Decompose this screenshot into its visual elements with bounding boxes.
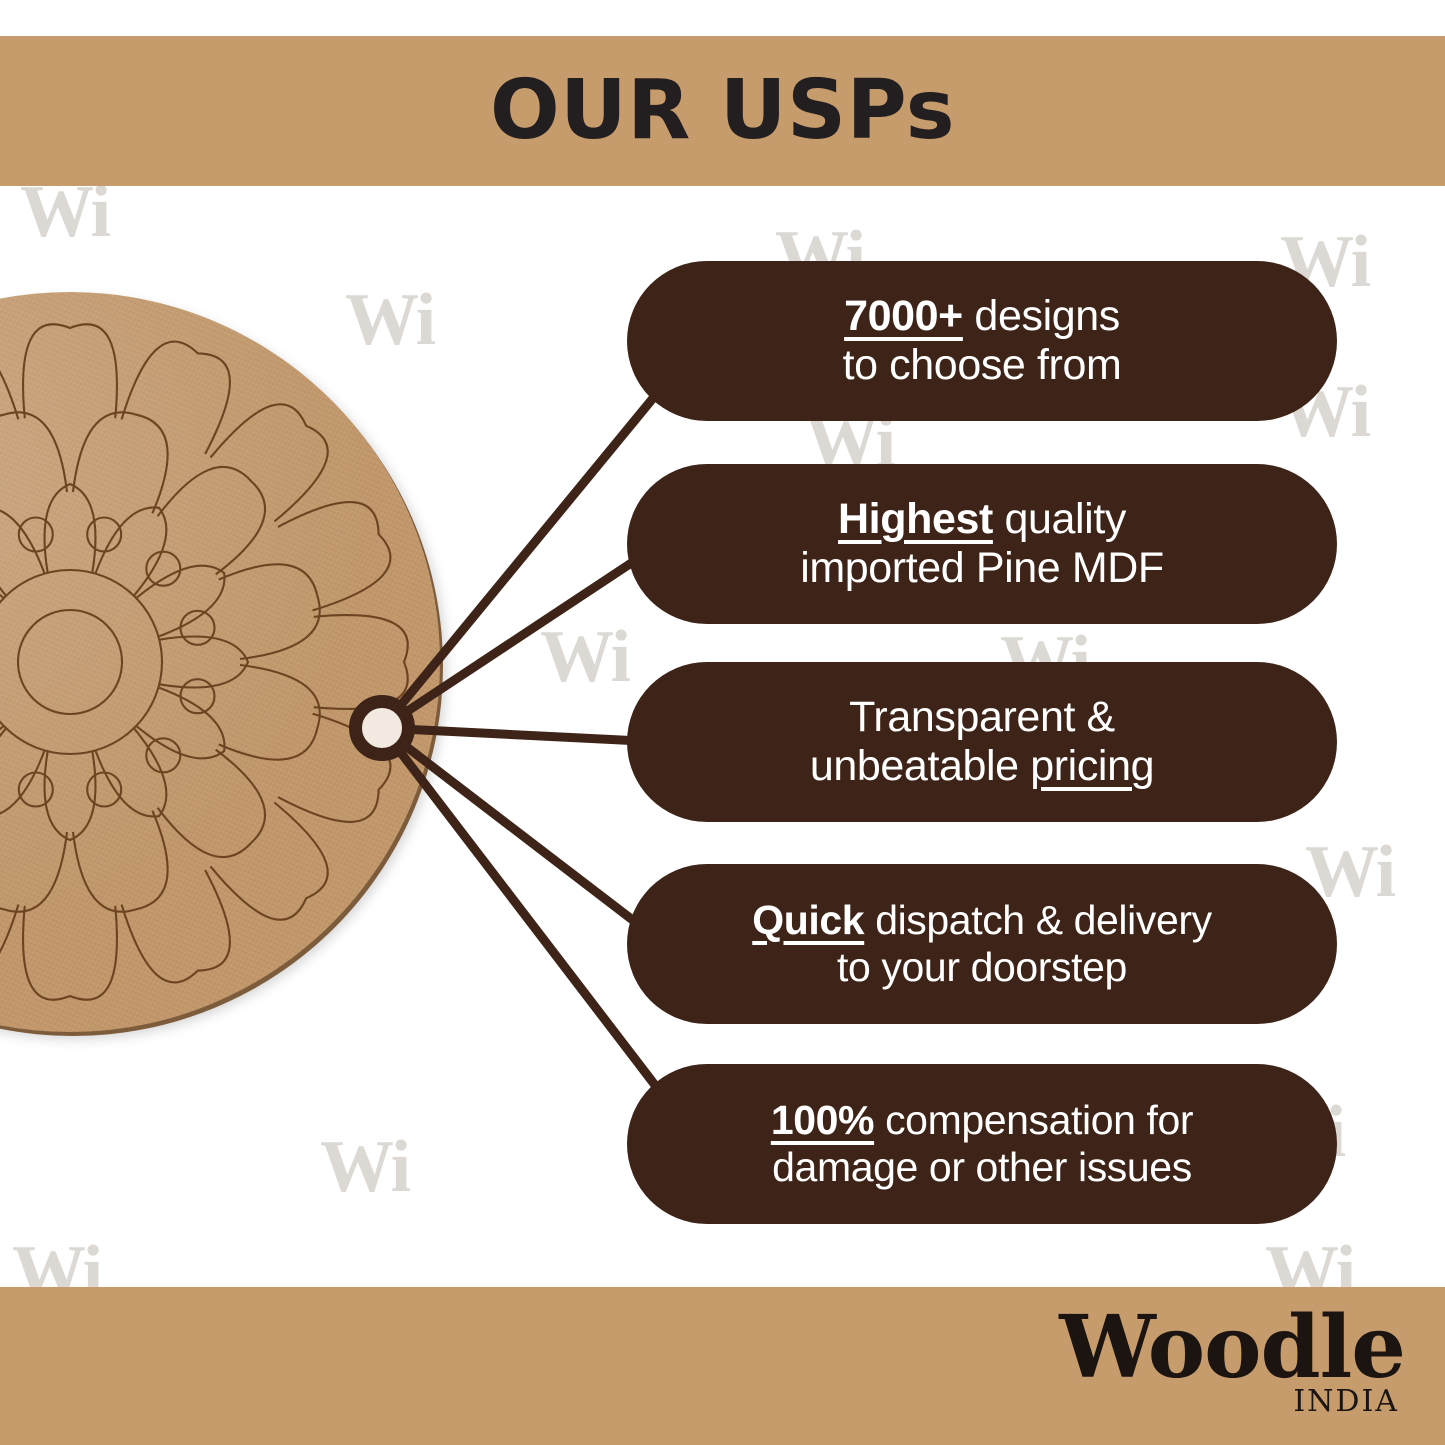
- mandala-petal: [211, 803, 328, 920]
- hub-node: [349, 695, 415, 761]
- usp-highlight: 7000+: [844, 292, 963, 340]
- brand-name: Woodle: [1059, 1305, 1405, 1391]
- brand-logo: Woodle INDIA: [1059, 1305, 1405, 1417]
- mandala-dot: [181, 679, 215, 713]
- usp-line1-rest: compensation for: [874, 1097, 1193, 1143]
- usp-line1-rest: designs: [963, 292, 1120, 340]
- usp-infographic-canvas: WiWiWiWiWiWiWiWiWiWiWiWiWi: [0, 0, 1445, 1445]
- watermark-wi-0: Wi: [20, 175, 109, 249]
- mandala-dot: [19, 773, 53, 807]
- usp-card-text: Transparent & unbeatable pricing: [810, 693, 1154, 792]
- usp-highlight: 100%: [771, 1097, 874, 1143]
- usp-card-text: Highest quality imported Pine MDF: [800, 495, 1164, 594]
- watermark-wi-6: Wi: [540, 620, 629, 694]
- usp-line2: to choose from: [843, 341, 1122, 389]
- usp-line2-pre: unbeatable: [810, 742, 1030, 790]
- usp-highlight: pricing: [1030, 742, 1154, 790]
- mandala-wood-board: [0, 292, 440, 1032]
- usp-line2: damage or other issues: [772, 1144, 1192, 1190]
- usp-card-quality[interactable]: Highest quality imported Pine MDF: [627, 464, 1337, 624]
- mandala-dot: [19, 518, 53, 552]
- usp-line1: Transparent &: [849, 693, 1115, 741]
- usp-line2: imported Pine MDF: [800, 544, 1164, 592]
- usp-line1-rest: quality: [993, 495, 1126, 543]
- usp-line2: to your doorstep: [837, 944, 1127, 990]
- footer-band: Woodle INDIA: [0, 1287, 1445, 1445]
- mandala-petal: [314, 615, 408, 709]
- mandala-petal: [23, 324, 117, 418]
- usp-card-designs[interactable]: 7000+ designs to choose from: [627, 261, 1337, 421]
- mandala-petal: [278, 502, 390, 610]
- usp-card-dispatch[interactable]: Quick dispatch & delivery to your doorst…: [627, 864, 1337, 1024]
- mandala-petal: [158, 467, 265, 574]
- usp-card-text: 100% compensation for damage or other is…: [771, 1097, 1193, 1191]
- mandala-engraving: [0, 292, 440, 1032]
- usp-card-text: Quick dispatch & delivery to your doorst…: [752, 897, 1211, 991]
- page-title: OUR USPs: [490, 70, 955, 152]
- mandala-dot: [87, 518, 121, 552]
- header-band: OUR USPs: [0, 36, 1445, 186]
- mandala-dot: [181, 611, 215, 645]
- usp-highlight: Quick: [752, 897, 864, 943]
- mandala-petal: [211, 404, 328, 521]
- mandala-petal: [0, 870, 18, 982]
- usp-highlight: Highest: [838, 495, 993, 543]
- mandala-petal: [0, 412, 67, 513]
- mandala-dot: [87, 773, 121, 807]
- mandala-petal: [23, 906, 117, 1000]
- mandala-petal: [0, 342, 18, 454]
- watermark-wi-9: Wi: [320, 1130, 409, 1204]
- usp-card-text: 7000+ designs to choose from: [843, 292, 1122, 391]
- mandala-petal: [122, 342, 230, 454]
- mandala-petal: [0, 811, 67, 912]
- mandala-dot: [146, 738, 180, 772]
- mandala-petal: [158, 750, 265, 857]
- mandala-dot: [146, 552, 180, 586]
- usp-card-pricing[interactable]: Transparent & unbeatable pricing: [627, 662, 1337, 822]
- usp-line1-rest: dispatch & delivery: [864, 897, 1212, 943]
- usp-card-compensation[interactable]: 100% compensation for damage or other is…: [627, 1064, 1337, 1224]
- mandala-petal: [122, 870, 230, 982]
